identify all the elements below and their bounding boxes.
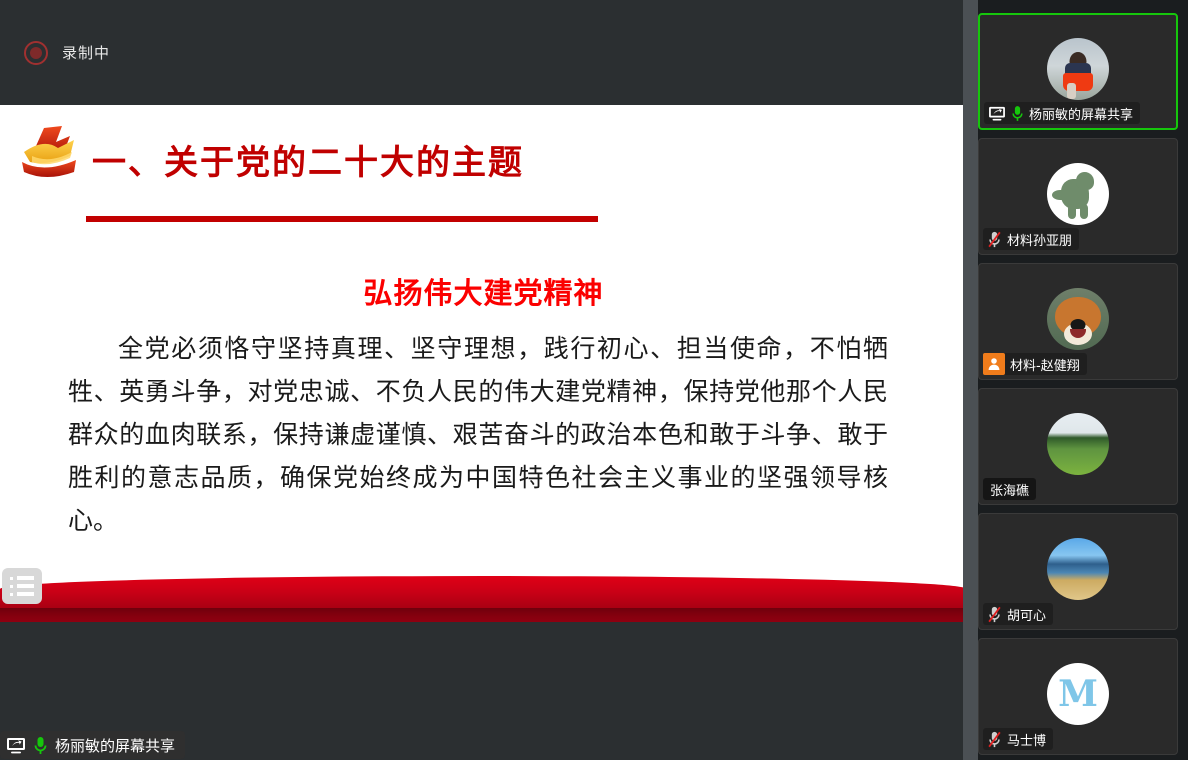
avatar bbox=[1047, 413, 1109, 475]
tile-badge: 张海礁 bbox=[983, 478, 1036, 500]
host-person-icon bbox=[983, 353, 1005, 375]
participant-tile[interactable]: 杨丽敏的屏幕共享 bbox=[978, 13, 1178, 130]
list-menu-icon[interactable] bbox=[2, 568, 42, 604]
avatar bbox=[1047, 38, 1109, 100]
avatar bbox=[1047, 288, 1109, 350]
participant-name: 胡可心 bbox=[1007, 605, 1046, 624]
participant-name: 张海礁 bbox=[990, 480, 1029, 499]
tile-badge: 材料-赵健翔 bbox=[983, 353, 1087, 375]
panel-divider[interactable] bbox=[963, 0, 978, 760]
participant-tile[interactable]: 胡可心 bbox=[978, 513, 1178, 630]
screen-share-icon bbox=[6, 737, 26, 754]
mic-on-icon bbox=[1011, 105, 1024, 122]
slide-header: 一、关于党的二十大的主题 bbox=[0, 105, 967, 225]
tile-badge: 马士博 bbox=[983, 728, 1053, 750]
recording-bar: 录制中 bbox=[0, 0, 967, 105]
tile-badge: 材料孙亚朋 bbox=[983, 228, 1079, 250]
mic-muted-icon bbox=[987, 606, 1002, 623]
participant-tile[interactable]: 材料孙亚朋 bbox=[978, 138, 1178, 255]
party-emblem-icon bbox=[14, 122, 92, 184]
mic-muted-icon bbox=[987, 731, 1002, 748]
participant-name: 材料-赵健翔 bbox=[1010, 355, 1080, 374]
shared-screen-area: 录制中 一、关 bbox=[0, 0, 967, 760]
screen-share-icon bbox=[988, 106, 1006, 121]
participant-tile[interactable]: 张海礁 bbox=[978, 388, 1178, 505]
avatar: M bbox=[1047, 663, 1109, 725]
slide-subtitle: 弘扬伟大建党精神 bbox=[0, 270, 967, 312]
participant-name: 材料孙亚朋 bbox=[1007, 230, 1072, 249]
participant-tile[interactable]: M 马士博 bbox=[978, 638, 1178, 755]
participant-tile[interactable]: 材料-赵健翔 bbox=[978, 263, 1178, 380]
slide-title: 一、关于党的二十大的主题 bbox=[92, 135, 524, 184]
title-underline bbox=[86, 216, 598, 222]
mic-on-icon bbox=[33, 736, 48, 755]
participant-filmstrip[interactable]: 杨丽敏的屏幕共享 材料孙亚朋 bbox=[978, 0, 1188, 760]
self-share-badge: 杨丽敏的屏幕共享 bbox=[0, 731, 185, 759]
avatar bbox=[1047, 538, 1109, 600]
presentation-slide: 一、关于党的二十大的主题 弘扬伟大建党精神 全党必须恪守坚持真理、坚守理想，践行… bbox=[0, 105, 967, 622]
red-ribbon-decoration bbox=[0, 576, 967, 622]
meeting-screen-share-window: 录制中 一、关 bbox=[0, 0, 1188, 760]
tile-badge: 胡可心 bbox=[983, 603, 1053, 625]
participant-name: 马士博 bbox=[1007, 730, 1046, 749]
avatar bbox=[1047, 163, 1109, 225]
self-share-name: 杨丽敏的屏幕共享 bbox=[55, 735, 175, 756]
participant-name: 杨丽敏的屏幕共享 bbox=[1029, 104, 1133, 123]
record-dot-icon bbox=[24, 41, 48, 65]
recording-label: 录制中 bbox=[62, 42, 110, 63]
slide-body-text: 全党必须恪守坚持真理、坚守理想，践行初心、担当使命，不怕牺牲、英勇斗争，对党忠诚… bbox=[68, 327, 888, 542]
mic-muted-icon bbox=[987, 231, 1002, 248]
tile-badge: 杨丽敏的屏幕共享 bbox=[984, 102, 1140, 124]
